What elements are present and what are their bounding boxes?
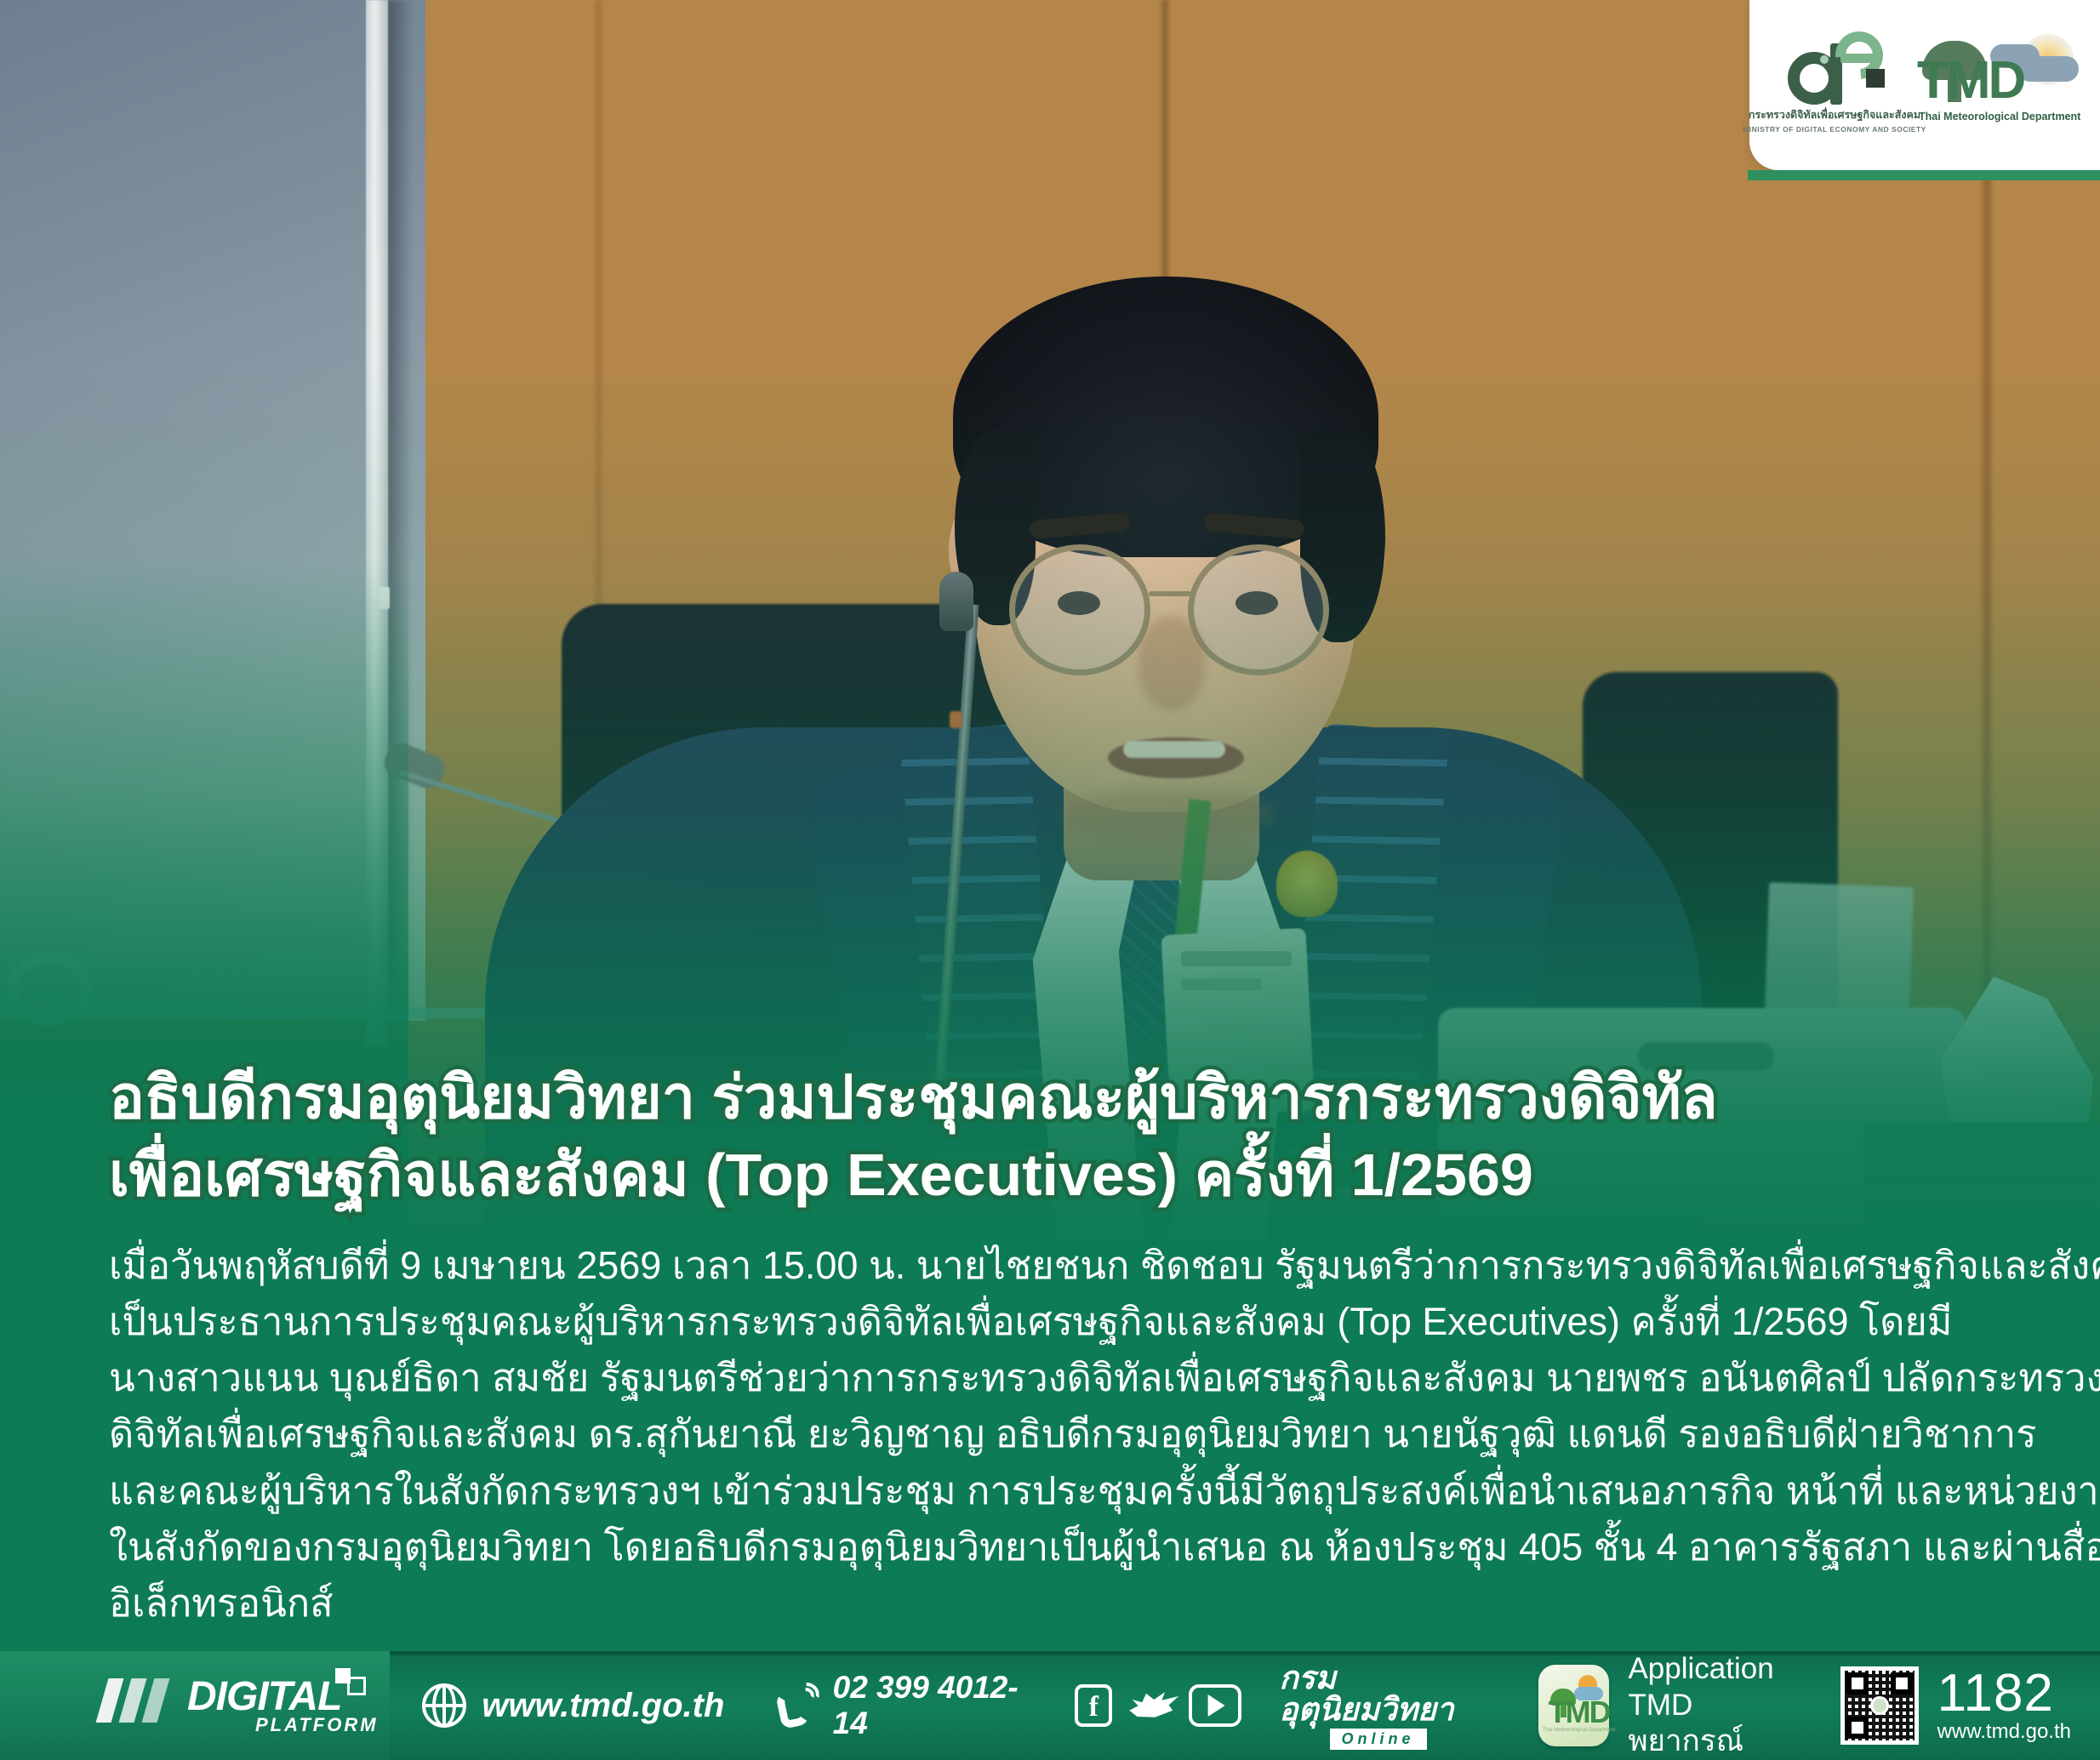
tmd-logo: TMD Thai Meteorological Department — [1917, 36, 2079, 129]
tmd-online-thai: กรมอุตุนิยมวิทยา — [1279, 1662, 1476, 1725]
des-logo-thai-name: กระทรวงดิจิทัลเพื่อเศรษฐกิจและสังคม — [1749, 106, 1920, 123]
globe-icon — [422, 1683, 466, 1728]
article-body: เมื่อวันพฤหัสบดีที่ 9 เมษายน 2569 เวลา 1… — [109, 1238, 2032, 1632]
phone-icon — [777, 1683, 817, 1729]
chin-shadow — [1064, 789, 1276, 840]
digital-platform-inner: DIGITAL PLATFORM — [102, 1670, 390, 1741]
teeth — [1123, 741, 1225, 758]
tmd-news-poster: กระทรวงดิจิทัลเพื่อเศรษฐกิจและสังคม MINI… — [0, 0, 2100, 1760]
twitter-icon[interactable] — [1129, 1684, 1172, 1727]
application-line-1: Application — [1628, 1651, 1792, 1688]
logo-card: กระทรวงดิจิทัลเพื่อเศรษฐกิจและสังคม MINI… — [1749, 0, 2100, 170]
youtube-icon[interactable] — [1189, 1684, 1242, 1727]
microphone-indicator-light — [950, 711, 962, 728]
facebook-icon[interactable]: f — [1075, 1684, 1112, 1727]
body-line-2: เป็นประธานการประชุมคณะผู้บริหารกระทรวงดิ… — [109, 1294, 2032, 1350]
body-line-7: อิเล็กทรอนิกส์ — [109, 1575, 2032, 1632]
application-line-2: TMD พยากรณ์ — [1628, 1688, 1792, 1760]
tmd-logo-subtitle: Thai Meteorological Department — [1919, 111, 2080, 122]
des-mark-square — [1866, 69, 1885, 88]
digital-platform-main-text: DIGITAL — [187, 1673, 341, 1720]
des-ministry-logo: กระทรวงดิจิทัลเพื่อเศรษฐกิจและสังคม MINI… — [1771, 31, 1898, 134]
social-links: f กรมอุตุนิยมวิทยา Online — [1075, 1662, 1476, 1750]
body-line-3: นางสาวแนน บุณย์ธิดา สมชัย รัฐมนตรีช่วยว่… — [109, 1350, 2032, 1406]
des-logo-mark — [1783, 31, 1886, 103]
app-icon-subtitle: Thai Meteorological Department — [1538, 1728, 1620, 1733]
headline: อธิบดีกรมอุตุนิยมวิทยา ร่วมประชุมคณะผู้บ… — [109, 1059, 2006, 1214]
wall-background — [0, 0, 425, 1021]
headline-line-2: เพื่อเศรษฐกิจและสังคม (Top Executives) ค… — [109, 1136, 2006, 1214]
body-line-4: ดิจิทัลเพื่อเศรษฐกิจและสังคม ดร.สุกันยาณ… — [109, 1406, 2032, 1462]
tmd-logo-letters: TMD — [1917, 54, 2079, 107]
vertical-pole — [366, 0, 388, 1046]
tmd-online-label: Online — [1330, 1729, 1427, 1750]
body-line-5: และคณะผู้บริหารในสังกัดกระทรวงฯ เข้าร่วม… — [109, 1463, 2032, 1519]
body-line-1: เมื่อวันพฤหัสบดีที่ 9 เมษายน 2569 เวลา 1… — [109, 1238, 2032, 1294]
meeting-photo — [0, 0, 2100, 1242]
badge-line — [1181, 951, 1292, 966]
phone-contact[interactable]: 02 399 4012-14 — [777, 1670, 1025, 1741]
eyeglasses-bridge — [1149, 591, 1191, 596]
des-mark-bar — [1840, 54, 1878, 63]
phone-label: 02 399 4012-14 — [833, 1670, 1026, 1741]
footer-bar: DIGITAL PLATFORM www.tmd.go.th 02 399 40… — [0, 1651, 2100, 1760]
digital-platform-bars-icon — [102, 1678, 163, 1723]
hotline-url: www.tmd.go.th — [1937, 1721, 2071, 1743]
bar-3 — [142, 1678, 170, 1723]
badge-line — [1181, 978, 1262, 990]
eyeglasses-left-lens — [1009, 544, 1150, 675]
des-mark-dot — [1820, 55, 1829, 64]
digital-platform-sub-text: PLATFORM — [255, 1714, 379, 1736]
tmd-app-icon: TMD Thai Meteorological Department — [1538, 1665, 1610, 1746]
hotline-text: 1182 www.tmd.go.th — [1937, 1668, 2071, 1743]
pole-knob — [378, 587, 390, 609]
hotline-block[interactable]: 1182 www.tmd.go.th — [1840, 1666, 2100, 1745]
body-line-6: ในสังกัดของกรมอุตุนิยมวิทยา โดยอธิบดีกรม… — [109, 1519, 2032, 1575]
des-logo-english-name: MINISTRY OF DIGITAL ECONOMY AND SOCIETY — [1743, 125, 1926, 134]
hotline-number: 1182 — [1937, 1668, 2071, 1719]
glass-ledge — [0, 1008, 545, 1018]
application-promo[interactable]: TMD Thai Meteorological Department Appli… — [1526, 1651, 1805, 1760]
eyeglasses-right-lens — [1188, 544, 1329, 675]
qr-code-icon[interactable] — [1840, 1666, 1919, 1745]
website-label: www.tmd.go.th — [482, 1687, 724, 1725]
microphone-head — [939, 572, 973, 631]
headline-line-1: อธิบดีกรมอุตุนิยมวิทยา ร่วมประชุมคณะผู้บ… — [109, 1059, 2006, 1136]
website-link[interactable]: www.tmd.go.th — [422, 1683, 724, 1728]
application-text: Application TMD พยากรณ์ — [1628, 1651, 1792, 1760]
digital-platform-square-outline — [347, 1677, 366, 1695]
app-icon-letters: TMD — [1538, 1697, 1620, 1728]
wall-edge-shadow — [387, 0, 413, 1012]
tmd-online-brand: กรมอุตุนิยมวิทยา Online — [1279, 1662, 1476, 1750]
gold-emblem-pin — [1276, 851, 1338, 917]
digital-platform-logo: DIGITAL PLATFORM — [0, 1651, 390, 1760]
nose — [1138, 617, 1205, 710]
